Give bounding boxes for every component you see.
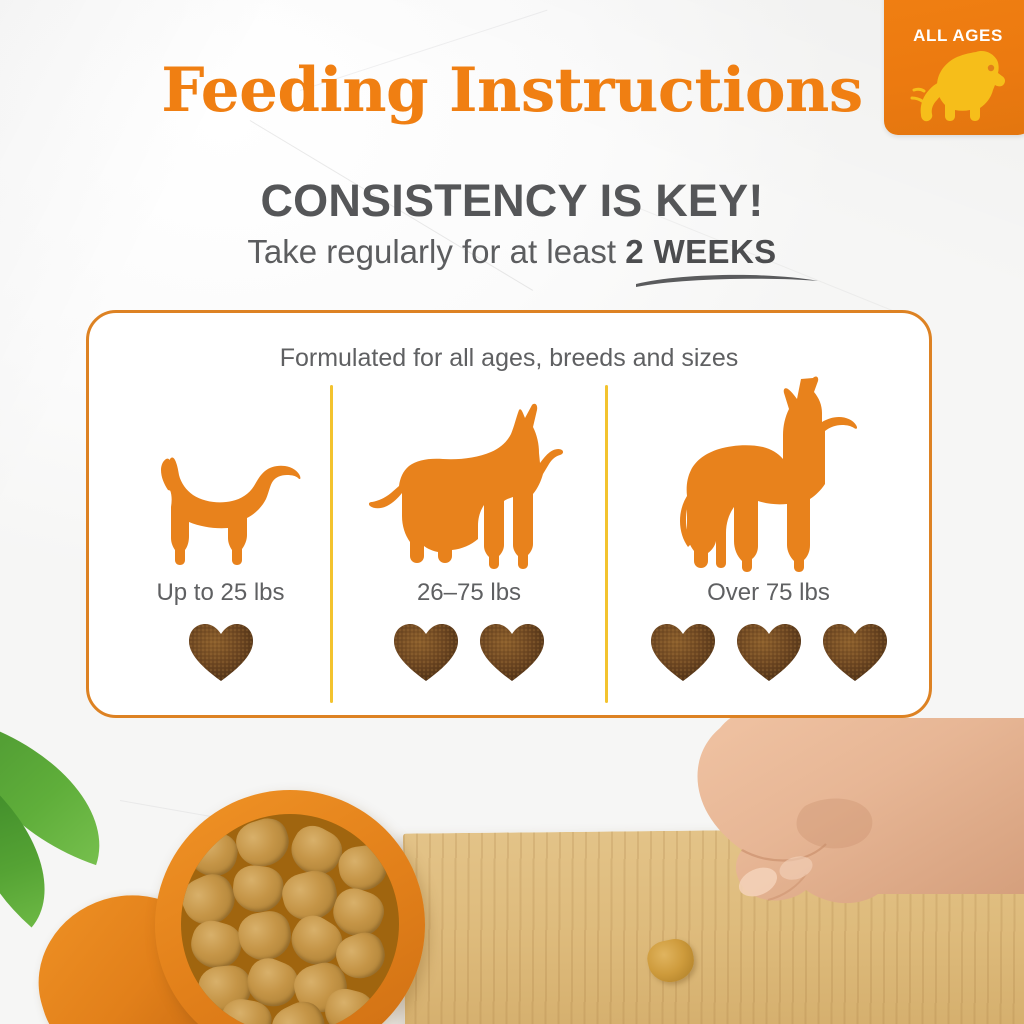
jar-opening — [181, 814, 399, 1024]
small-dog-silhouette-icon — [139, 373, 303, 573]
heart-kibble-icon — [186, 621, 256, 685]
all-ages-badge-label: ALL AGES — [884, 26, 1024, 46]
heart-kibble-icon — [820, 621, 890, 685]
page-title: Feeding Instructions — [0, 55, 1024, 126]
tagline-highlight-2-weeks: 2 WEEKS — [625, 233, 776, 270]
medium-dog-silhouette-icon — [367, 373, 572, 573]
feeding-chart-card: Formulated for all ages, breeds and size… — [86, 310, 932, 718]
infographic-canvas: ALL AGES Feeding Instructions CONSISTENC… — [0, 0, 1024, 1024]
heart-kibble-icon — [477, 621, 547, 685]
subtitle-consistency: CONSISTENCY IS KEY! — [0, 175, 1024, 227]
kibble-jar — [155, 790, 425, 1024]
weight-label: 26–75 lbs — [417, 579, 521, 607]
large-dog-silhouette-icon — [661, 373, 876, 573]
weight-label: Up to 25 lbs — [156, 579, 284, 607]
heart-kibble-icon — [648, 621, 718, 685]
tagline-row: Take regularly for at least 2 WEEKS — [0, 233, 1024, 271]
size-column-large: Over 75 lbs — [608, 373, 929, 713]
sitting-dog-icon — [898, 46, 1018, 129]
all-ages-badge: ALL AGES — [884, 0, 1024, 135]
size-column-small: Up to 25 lbs — [111, 373, 330, 713]
heart-kibble-icon — [734, 621, 804, 685]
treat-dose-row — [648, 621, 890, 685]
product-photo — [0, 718, 1024, 1024]
treat-dose-row — [186, 621, 256, 685]
heart-kibble-icon — [391, 621, 461, 685]
weight-label: Over 75 lbs — [707, 579, 830, 607]
tagline-prefix: Take regularly for at least — [247, 233, 625, 270]
treat-dose-row — [391, 621, 547, 685]
size-column-medium: 26–75 lbs — [333, 373, 605, 713]
underline-swoosh-icon — [634, 268, 820, 293]
card-note: Formulated for all ages, breeds and size… — [89, 344, 929, 373]
